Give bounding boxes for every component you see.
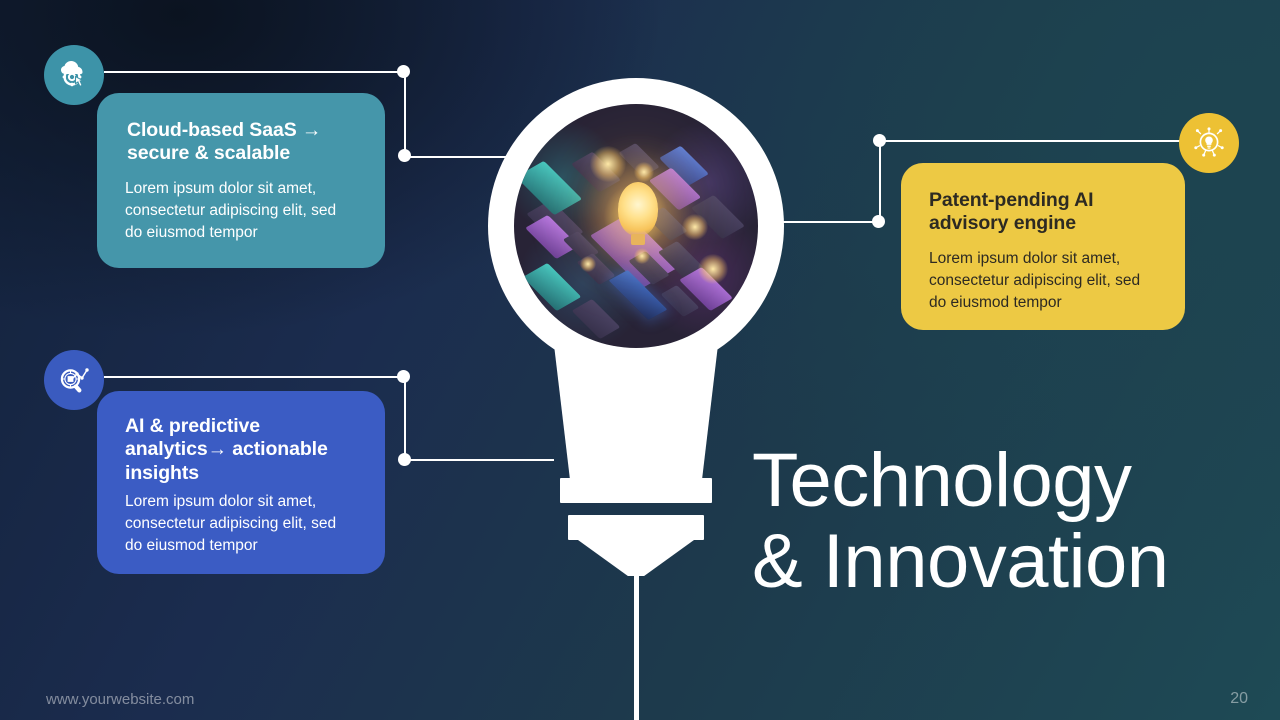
- bulb-tip: [578, 540, 694, 576]
- card-cloud-based-saas[interactable]: Cloud-based SaaS → secure & scalable Lor…: [97, 93, 385, 268]
- slide-title-line-1: Technology: [752, 438, 1132, 523]
- card-patent-pending-ai[interactable]: Patent-pending AI advisory engine Lorem …: [901, 163, 1185, 330]
- card-patent-heading: Patent-pending AI advisory engine: [929, 189, 1157, 236]
- card-cloud-heading: Cloud-based SaaS → secure & scalable: [125, 119, 357, 166]
- bulb-inner-illustration: [514, 104, 758, 348]
- badge-lightbulb-circuit[interactable]: [1179, 113, 1239, 173]
- connector-node-analytics-top: [397, 370, 410, 383]
- connector-line-analytics-vertical: [404, 376, 406, 461]
- magnifier-chart-icon: [56, 362, 92, 398]
- slide-title: Technology & Innovation: [752, 440, 1222, 603]
- connector-node-patent-bottom: [872, 215, 885, 228]
- connector-line-cloud-top: [104, 71, 406, 73]
- connector-line-analytics-top: [104, 376, 406, 378]
- card-ai-predictive-analytics[interactable]: AI & predictive analytics→ actionable in…: [97, 391, 385, 574]
- page-number: 20: [1230, 690, 1248, 708]
- connector-line-patent-vertical: [879, 140, 881, 222]
- slide-canvas: Cloud-based SaaS → secure & scalable Lor…: [0, 0, 1280, 720]
- lightbulb-circuit-icon: [1191, 125, 1227, 161]
- card-cloud-body: Lorem ipsum dolor sit amet, consectetur …: [125, 178, 357, 244]
- slide-title-line-2: & Innovation: [752, 521, 1222, 602]
- connector-node-analytics-bottom: [398, 453, 411, 466]
- connector-node-cloud-top: [397, 65, 410, 78]
- connector-node-cloud-bottom: [398, 149, 411, 162]
- connector-line-cloud-bottom: [404, 156, 514, 158]
- glowing-bulb-icon: [618, 182, 658, 236]
- cloud-gear-icon: [56, 57, 92, 93]
- connector-line-analytics-bottom: [404, 459, 554, 461]
- footer-website-url[interactable]: www.yourwebsite.com: [46, 691, 194, 708]
- connector-line-patent-top: [880, 140, 1180, 142]
- card-analytics-body: Lorem ipsum dolor sit amet, consectetur …: [125, 491, 357, 557]
- card-patent-body: Lorem ipsum dolor sit amet, consectetur …: [929, 248, 1157, 314]
- badge-magnifier-chart[interactable]: [44, 350, 104, 410]
- badge-cloud-gear[interactable]: [44, 45, 104, 105]
- connector-line-cloud-vertical: [404, 71, 406, 157]
- bulb-stem-line: [634, 572, 639, 720]
- connector-node-patent-top: [873, 134, 886, 147]
- card-analytics-heading: AI & predictive analytics→ actionable in…: [125, 415, 357, 485]
- connector-line-patent-bottom: [768, 221, 882, 223]
